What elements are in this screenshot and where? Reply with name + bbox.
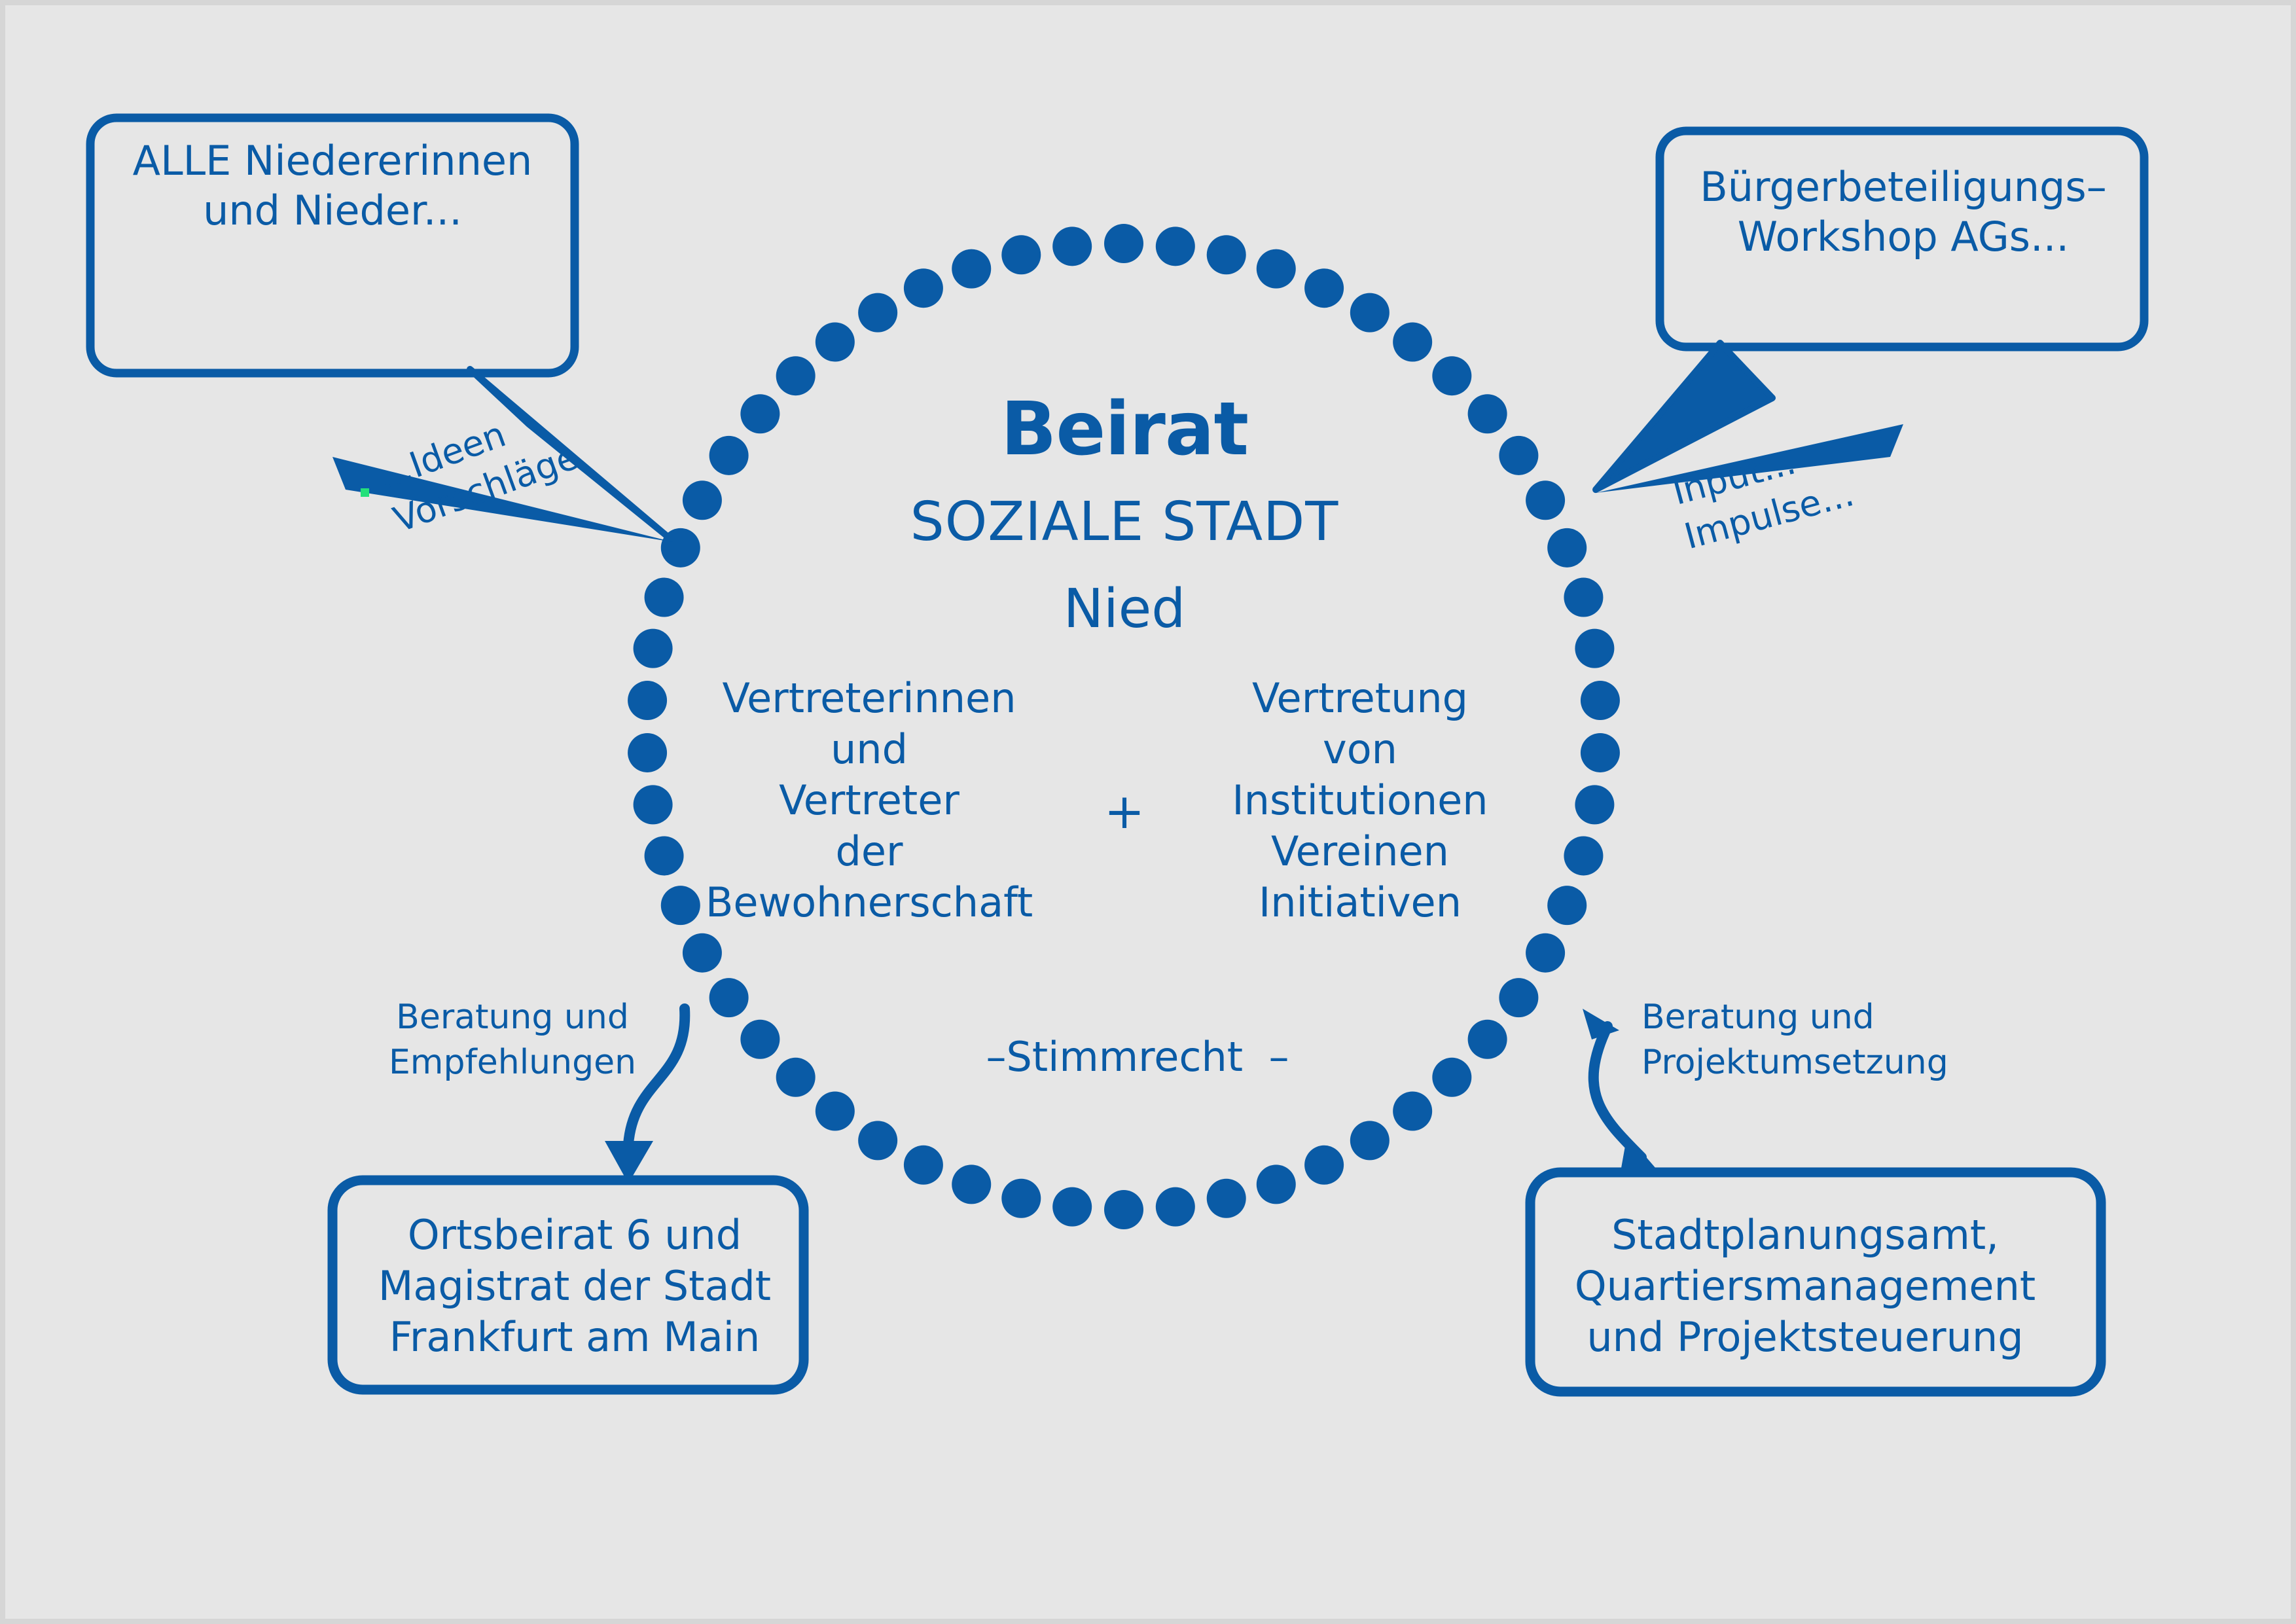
circle-dot <box>634 785 673 824</box>
circle-dot <box>1499 978 1538 1017</box>
circle-dot <box>661 886 700 925</box>
speech-bubble-left-label: ALLE Niedererinnen und Nieder... <box>103 136 562 235</box>
circle-dot <box>1001 235 1041 274</box>
circle-dot <box>1304 1146 1344 1185</box>
circle-dot <box>776 1058 816 1097</box>
circle-dot <box>661 528 700 568</box>
center-right-column: Vertretung von Institutionen Vereinen In… <box>1203 673 1517 929</box>
circle-dot <box>634 629 673 668</box>
circle-dot <box>645 836 684 875</box>
circle-dot <box>1393 1092 1432 1131</box>
center-subtitle: SOZIALE STADT <box>764 491 1484 554</box>
circle-dot <box>1432 1058 1471 1097</box>
circle-dot <box>904 268 943 308</box>
center-location: Nied <box>764 578 1484 641</box>
circle-dot <box>1575 785 1614 824</box>
circle-dot <box>1393 322 1432 361</box>
label-beratung-projektumsetzung: Beratung und Projektumsetzung <box>1641 995 1956 1085</box>
circle-dot <box>1304 268 1344 308</box>
circle-dot <box>1207 235 1246 274</box>
circle-dot <box>952 1164 991 1204</box>
circle-dot <box>645 578 684 617</box>
stimmrecht-footnote: –Stimmrecht – <box>908 1034 1367 1081</box>
circle-dot <box>1526 933 1565 973</box>
circle-dot <box>1156 1187 1195 1227</box>
circle-dot <box>740 1020 780 1059</box>
plus-operator: + <box>1079 784 1170 839</box>
circle-dot <box>816 1092 855 1131</box>
circle-dot <box>1052 226 1092 266</box>
center-title-block: Beirat SOZIALE STADT Nied <box>764 369 1484 666</box>
circle-dot <box>1350 1121 1390 1160</box>
circle-dot <box>1350 293 1390 333</box>
circle-dot <box>1257 249 1296 289</box>
circle-dot <box>1581 733 1620 772</box>
label-beratung-empfehlungen: Beratung und Empfehlungen <box>372 995 653 1085</box>
center-left-column: Vertreterinnen und Vertreter der Bewohne… <box>699 673 1039 929</box>
circle-dot <box>952 249 991 289</box>
circle-dot <box>628 681 667 720</box>
box-right-label: Stadtplanungsamt, Quartiersmanagement un… <box>1537 1210 2073 1363</box>
circle-dot <box>1257 1164 1296 1204</box>
circle-dot <box>1104 224 1143 263</box>
circle-dot <box>858 1121 897 1160</box>
circle-dot <box>709 436 749 475</box>
circle-dot <box>816 322 855 361</box>
circle-dot <box>1547 528 1587 568</box>
circle-dot <box>1104 1190 1143 1229</box>
circle-dot <box>1207 1179 1246 1218</box>
circle-dot <box>858 293 897 333</box>
box-left-label: Ortsbeirat 6 und Magistrat der Stadt Fra… <box>352 1210 797 1363</box>
diagram-canvas: ALLE Niedererinnen und Nieder... Bürgerb… <box>0 0 2296 1624</box>
annotation-ideen-vorschlaege: ...Ideen Vorschläge <box>372 391 585 543</box>
green-marker-dot <box>361 488 369 497</box>
circle-dot <box>683 933 722 973</box>
circle-dot <box>1052 1187 1092 1227</box>
annotation-input-impulse: Input... Impulse... <box>1668 426 1859 560</box>
speech-bubble-right-label: Bürgerbeteiligungs– Workshop AGs... <box>1681 162 2126 261</box>
circle-dot <box>683 480 722 520</box>
circle-dot <box>1499 436 1538 475</box>
circle-dot <box>904 1146 943 1185</box>
circle-dot <box>1564 578 1603 617</box>
circle-dot <box>1564 836 1603 875</box>
circle-dot <box>1526 480 1565 520</box>
page-title: Beirat <box>764 392 1484 467</box>
circle-dot <box>1156 226 1195 266</box>
circle-dot <box>709 978 749 1017</box>
circle-dot <box>1581 681 1620 720</box>
circle-dot <box>1547 886 1587 925</box>
circle-dot <box>1468 1020 1507 1059</box>
circle-dot <box>1001 1179 1041 1218</box>
circle-dot <box>628 733 667 772</box>
circle-dot <box>1575 629 1614 668</box>
